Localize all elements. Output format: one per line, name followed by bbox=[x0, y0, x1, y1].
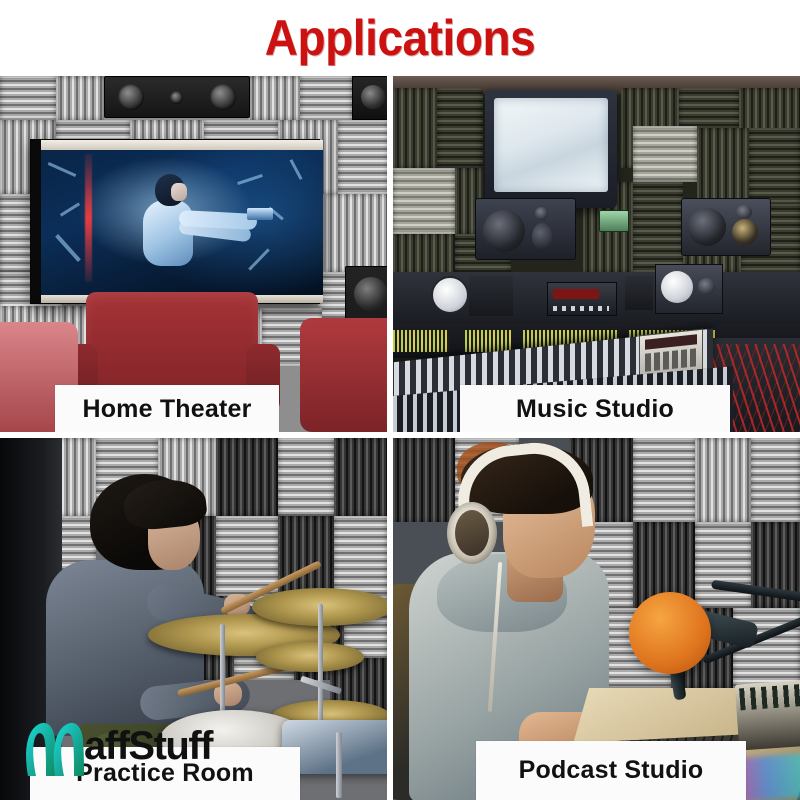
foam-panel bbox=[248, 76, 300, 120]
applications-grid: Home Theater bbox=[0, 76, 800, 800]
center-channel-speaker bbox=[104, 76, 250, 118]
speaker-midrange bbox=[732, 219, 758, 245]
speaker-driver bbox=[210, 84, 236, 110]
character-face bbox=[171, 183, 187, 201]
caption-label: Home Theater bbox=[82, 395, 251, 424]
equipment-box bbox=[469, 276, 513, 316]
foam-panel bbox=[437, 88, 483, 168]
glass-shard bbox=[248, 248, 270, 270]
speaker-driver bbox=[118, 84, 144, 110]
caption-home-theater: Home Theater bbox=[55, 385, 279, 432]
equipment-box bbox=[625, 276, 653, 310]
panel-music-studio[interactable]: Music Studio bbox=[393, 76, 800, 432]
speaker-driver bbox=[354, 277, 387, 311]
foam-panel bbox=[278, 438, 334, 516]
side-speaker-top bbox=[352, 76, 387, 120]
practice-room-scene bbox=[0, 438, 387, 800]
glass-shard bbox=[55, 234, 81, 262]
audio-mixer bbox=[735, 679, 800, 750]
speaker-tweeter bbox=[698, 278, 715, 295]
movie-scene bbox=[41, 150, 323, 295]
speaker-woofer bbox=[483, 210, 525, 252]
red-light-beam bbox=[85, 154, 92, 282]
keypad-display bbox=[645, 334, 697, 349]
keypad-keys bbox=[645, 348, 697, 371]
foam-panel bbox=[695, 438, 751, 522]
cymbal-stand bbox=[318, 604, 323, 738]
foam-panel-light bbox=[633, 126, 697, 182]
foam-panel bbox=[338, 120, 387, 194]
mixer-knobs bbox=[739, 684, 800, 711]
panel-practice-room[interactable]: Practice Room bbox=[0, 438, 387, 800]
foam-panel-light bbox=[393, 168, 455, 234]
rack-buttons bbox=[553, 306, 609, 311]
music-studio-scene bbox=[393, 76, 800, 432]
screen-valance bbox=[41, 140, 323, 150]
foam-panel bbox=[695, 522, 751, 608]
hi-hat-cymbal bbox=[256, 642, 364, 672]
panel-home-theater[interactable]: Home Theater bbox=[0, 76, 387, 432]
foam-panel bbox=[697, 128, 749, 204]
caption-label: Music Studio bbox=[516, 395, 674, 424]
glass-shard bbox=[60, 202, 80, 216]
foam-panel bbox=[326, 194, 387, 272]
rack-unit bbox=[547, 282, 617, 316]
speaker-tweeter bbox=[736, 205, 752, 219]
orange-mic-windscreen bbox=[629, 592, 711, 674]
crt-monitor bbox=[485, 90, 617, 208]
level-meters bbox=[465, 330, 511, 352]
foam-panel-dark bbox=[334, 438, 387, 516]
caption-practice-room: Practice Room bbox=[30, 747, 300, 800]
foam-panel bbox=[751, 438, 800, 522]
crt-screen bbox=[494, 98, 608, 192]
caption-label: Practice Room bbox=[76, 759, 254, 788]
caption-podcast-studio: Podcast Studio bbox=[476, 741, 746, 800]
foam-panel bbox=[300, 76, 352, 120]
page-title: Applications bbox=[265, 13, 536, 63]
rack-display bbox=[553, 289, 599, 299]
wall-gauge bbox=[431, 276, 469, 314]
exit-sign bbox=[599, 210, 629, 232]
drum-hardware bbox=[336, 732, 342, 798]
glass-shard bbox=[48, 162, 77, 177]
speaker-midrange bbox=[532, 223, 552, 250]
foam-panel bbox=[393, 234, 455, 274]
speaker-tweeter bbox=[170, 91, 183, 104]
theater-seat-right bbox=[300, 318, 387, 432]
home-theater-scene bbox=[0, 76, 387, 432]
speaker-woofer bbox=[661, 271, 693, 303]
caption-label: Podcast Studio bbox=[519, 756, 704, 785]
studio-monitor-right bbox=[681, 198, 771, 256]
foam-panel bbox=[0, 76, 56, 120]
glass-shard bbox=[290, 159, 303, 180]
character-weapon bbox=[247, 208, 273, 220]
page-title-bar: Applications bbox=[0, 0, 800, 76]
foam-panel bbox=[633, 182, 683, 272]
speaker-woofer bbox=[688, 208, 726, 246]
level-meters bbox=[393, 330, 449, 352]
panel-podcast-studio[interactable]: Podcast Studio bbox=[393, 438, 800, 800]
applications-infographic: Applications bbox=[0, 0, 800, 800]
headphones-earpad bbox=[455, 510, 489, 556]
movie-character bbox=[127, 174, 247, 294]
speaker-tweeter bbox=[535, 207, 548, 220]
foam-panel bbox=[749, 128, 800, 204]
foam-panel-dark bbox=[278, 516, 334, 596]
foam-panel bbox=[393, 88, 437, 168]
near-field-monitor bbox=[655, 264, 723, 314]
foam-panel bbox=[56, 76, 104, 120]
studio-monitor-left bbox=[475, 198, 576, 260]
foam-panel bbox=[334, 516, 387, 596]
projector-screen bbox=[30, 139, 320, 304]
caption-music-studio: Music Studio bbox=[460, 385, 730, 432]
